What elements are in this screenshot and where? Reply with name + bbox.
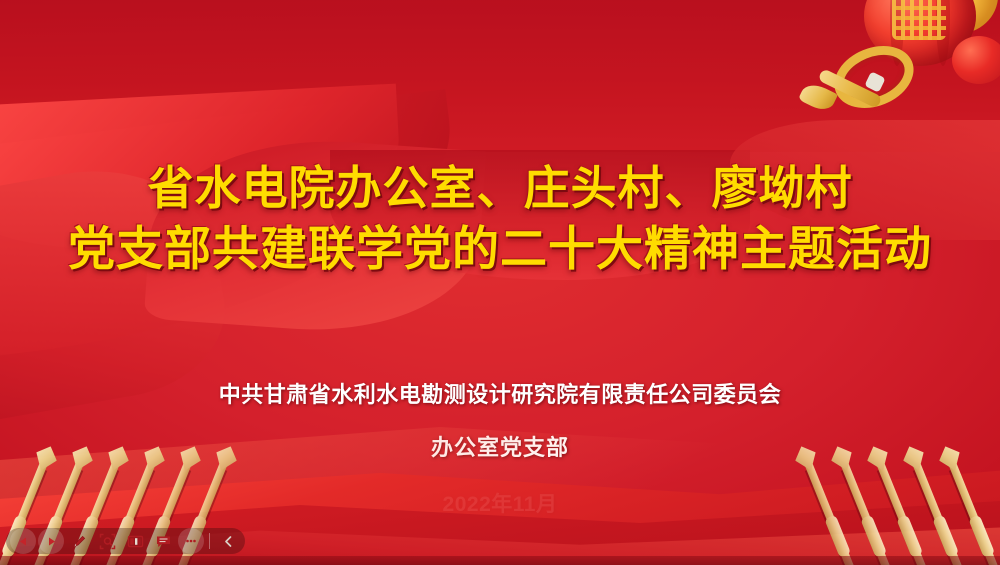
chevron-left-icon [221,534,236,549]
title-line-1: 省水电院办公室、庄头村、廖坳村 [16,158,984,219]
triangle-left-icon [17,535,30,548]
speech-bubble-icon [155,533,172,550]
next-slide-button[interactable] [38,528,64,554]
presenter-toolbar[interactable] [6,528,245,554]
zoom-region-button[interactable] [94,528,120,554]
lantern-character-panel [892,0,946,40]
magnify-region-icon [99,533,116,550]
red-lantern-small-icon [952,36,1000,84]
slide-date: 2022年11月 [0,488,1000,518]
presentation-slide: 省水电院办公室、庄头村、廖坳村 党支部共建联学党的二十大精神主题活动 中共甘肃省… [0,0,1000,565]
previous-slide-button[interactable] [10,528,36,554]
slide-grid-button[interactable] [122,528,148,554]
slide-title: 省水电院办公室、庄头村、廖坳村 党支部共建联学党的二十大精神主题活动 [0,158,1000,281]
bottom-edge-bar [0,556,1000,565]
organization-name: 中共甘肃省水利水电勘测设计研究院有限责任公司委员会 [0,382,1000,408]
branch-name: 办公室党支部 [0,430,1000,462]
ellipsis-icon [184,534,198,548]
grid-slides-icon [127,533,144,550]
toolbar-separator [209,533,210,549]
slide-subtitle-block: 中共甘肃省水利水电勘测设计研究院有限责任公司委员会 办公室党支部 2022年11… [0,382,1000,518]
pen-icon [71,533,88,550]
title-line-2: 党支部共建联学党的二十大精神主题活动 [16,219,984,281]
pen-tool-button[interactable] [66,528,92,554]
more-options-button[interactable] [178,528,204,554]
comment-button[interactable] [150,528,176,554]
lantern-decoration [815,0,1000,137]
collapse-toolbar-button[interactable] [215,528,241,554]
triangle-right-icon [45,535,58,548]
